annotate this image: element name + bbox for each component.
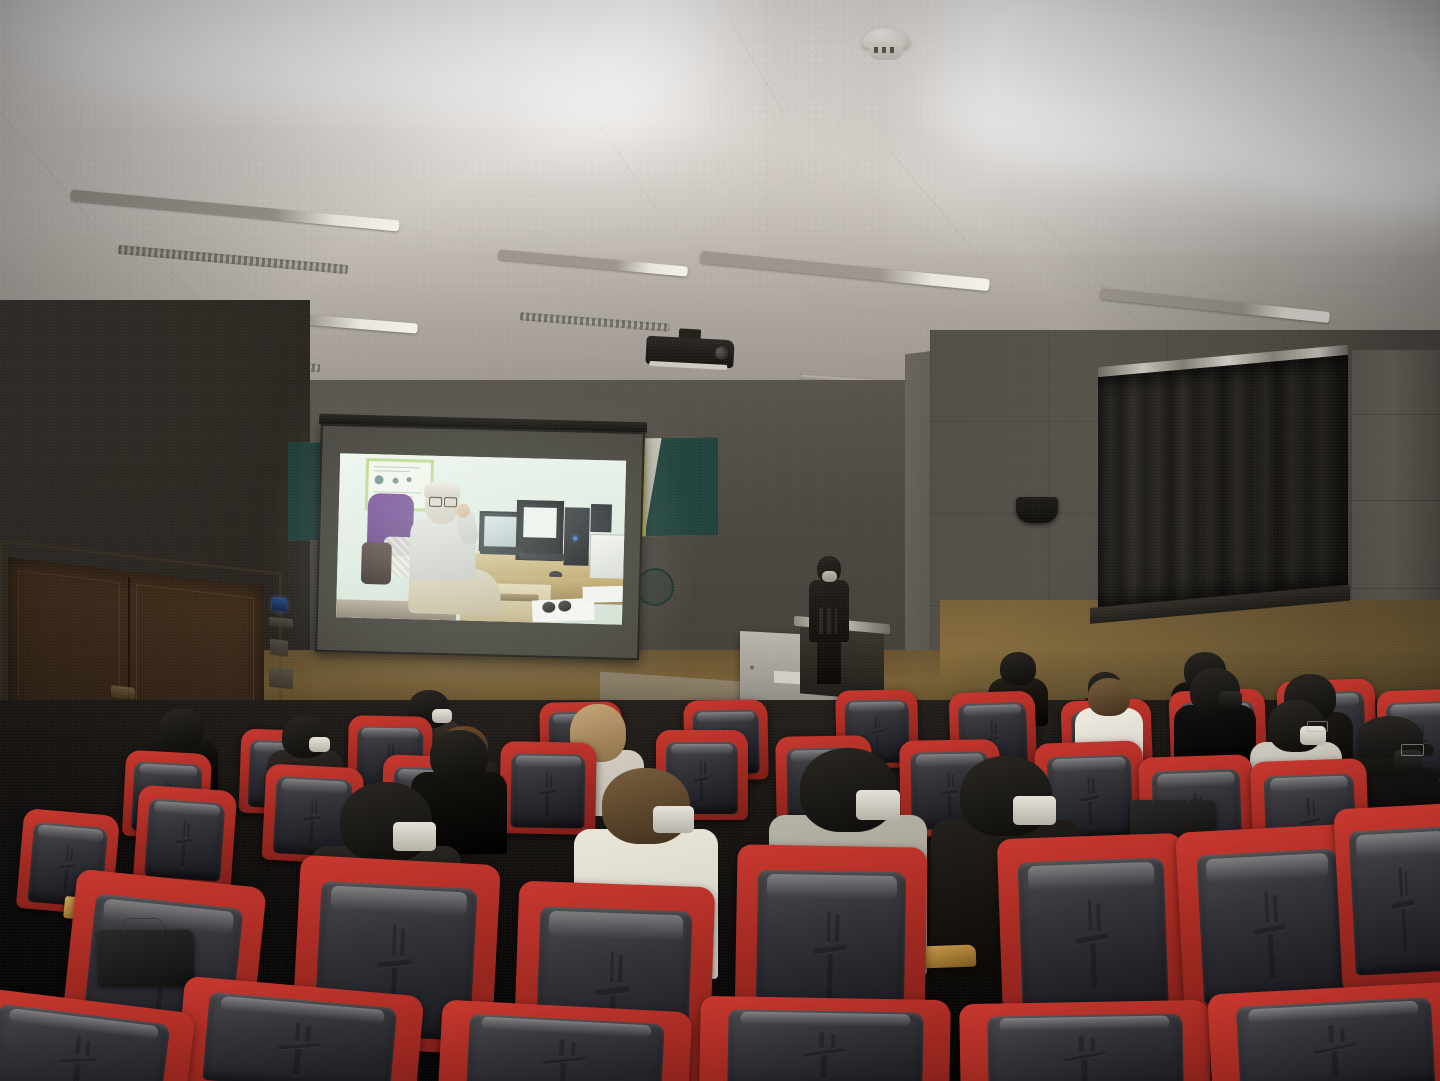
- seat-embossed-pattern: [1066, 899, 1121, 991]
- auditorium-seat[interactable]: [499, 741, 597, 835]
- seat-shell-highlight: [1027, 862, 1154, 891]
- seat-embossed-pattern: [1299, 1024, 1372, 1080]
- audience-face-mask: [856, 790, 900, 820]
- seat-embossed-pattern: [1383, 866, 1424, 954]
- audience-face-mask: [432, 709, 451, 723]
- audience-member: [430, 730, 488, 864]
- audience-head: [1000, 652, 1036, 685]
- seat-embossed-pattern: [789, 1031, 860, 1080]
- seat-shell-highlight: [671, 744, 734, 756]
- seat-shell-highlight: [1052, 756, 1126, 772]
- audience-glasses-icon: [1401, 744, 1424, 756]
- auditorium-seat[interactable]: [997, 833, 1189, 1027]
- seat-shell-highlight: [1356, 831, 1440, 859]
- audience-face-mask: [1013, 796, 1055, 825]
- seat-embossed-pattern: [528, 1038, 600, 1081]
- bag-handle: [123, 918, 163, 932]
- seat-shell-highlight: [963, 704, 1022, 717]
- seat-shell-highlight: [767, 873, 897, 900]
- seat-embossed-pattern: [1050, 1035, 1121, 1081]
- auditorium-seat[interactable]: [959, 1000, 1211, 1081]
- seat-embossed-pattern: [45, 1034, 113, 1081]
- audience-face-mask: [393, 822, 435, 851]
- seat-embossed-pattern: [803, 910, 858, 1002]
- seat-embossed-pattern: [534, 773, 562, 818]
- auditorium-seat[interactable]: [699, 996, 951, 1081]
- seat-embossed-pattern: [1074, 777, 1106, 828]
- auditorium-seat[interactable]: [1207, 982, 1440, 1081]
- seat-shell-highlight: [849, 701, 905, 712]
- black-bag-on-seat: [98, 930, 194, 986]
- auditorium-seat[interactable]: [438, 1000, 693, 1081]
- audience-head: [1088, 678, 1130, 716]
- bag-handle: [1152, 791, 1188, 802]
- auditorium-seat[interactable]: [133, 785, 238, 890]
- seat-embossed-pattern: [169, 820, 200, 869]
- audience-face-mask: [653, 806, 693, 833]
- seat-shell-highlight: [697, 712, 754, 723]
- seat-shell-highlight: [516, 755, 581, 768]
- seat-embossed-pattern: [1243, 890, 1298, 982]
- seat-embossed-pattern: [689, 761, 715, 804]
- seating-area: [0, 0, 1440, 1081]
- seat-shell-highlight: [1157, 771, 1235, 788]
- seat-embossed-pattern: [263, 1021, 335, 1079]
- seat-embossed-pattern: [298, 798, 328, 845]
- auditorium-photo: Auditorium Employment Special Lecture Sc…: [0, 0, 1440, 1081]
- auditorium-seat[interactable]: [1333, 803, 1440, 990]
- seat-shell-highlight: [362, 728, 419, 740]
- seat-shell-highlight: [549, 911, 683, 941]
- audience-face-mask: [1219, 691, 1242, 708]
- audience-head: [160, 708, 204, 748]
- audience-head: [430, 730, 488, 782]
- audience-glasses-icon: [1307, 721, 1328, 732]
- audience-face-mask: [309, 737, 330, 752]
